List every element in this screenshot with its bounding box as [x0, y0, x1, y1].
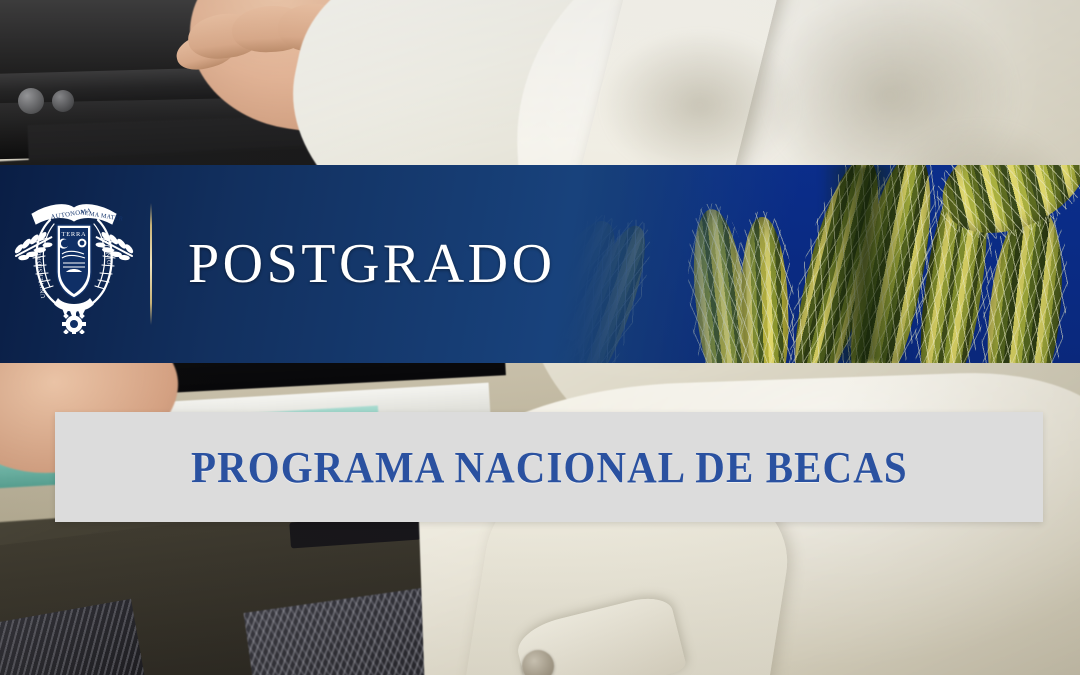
title-band: PROGRAMA NACIONAL DE BECAS	[55, 412, 1043, 522]
page-title: PROGRAMA NACIONAL DE BECAS	[191, 442, 908, 493]
uaslp-crest-icon: AUTONOMA ALMA MATER UNIVERSIDAD ANTONIO …	[14, 194, 134, 334]
header-logo-block: AUTONOMA ALMA MATER UNIVERSIDAD ANTONIO …	[0, 165, 520, 363]
banner-canvas: AUTONOMA ALMA MATER UNIVERSIDAD ANTONIO …	[0, 0, 1080, 675]
header-vertical-divider	[150, 203, 152, 325]
crest-gear-icon	[62, 312, 86, 334]
brand-postgrado: POSTGRADO	[188, 232, 556, 296]
crest-shield-word: TERRA	[62, 231, 87, 238]
header-band: AUTONOMA ALMA MATER UNIVERSIDAD ANTONIO …	[0, 165, 1080, 363]
